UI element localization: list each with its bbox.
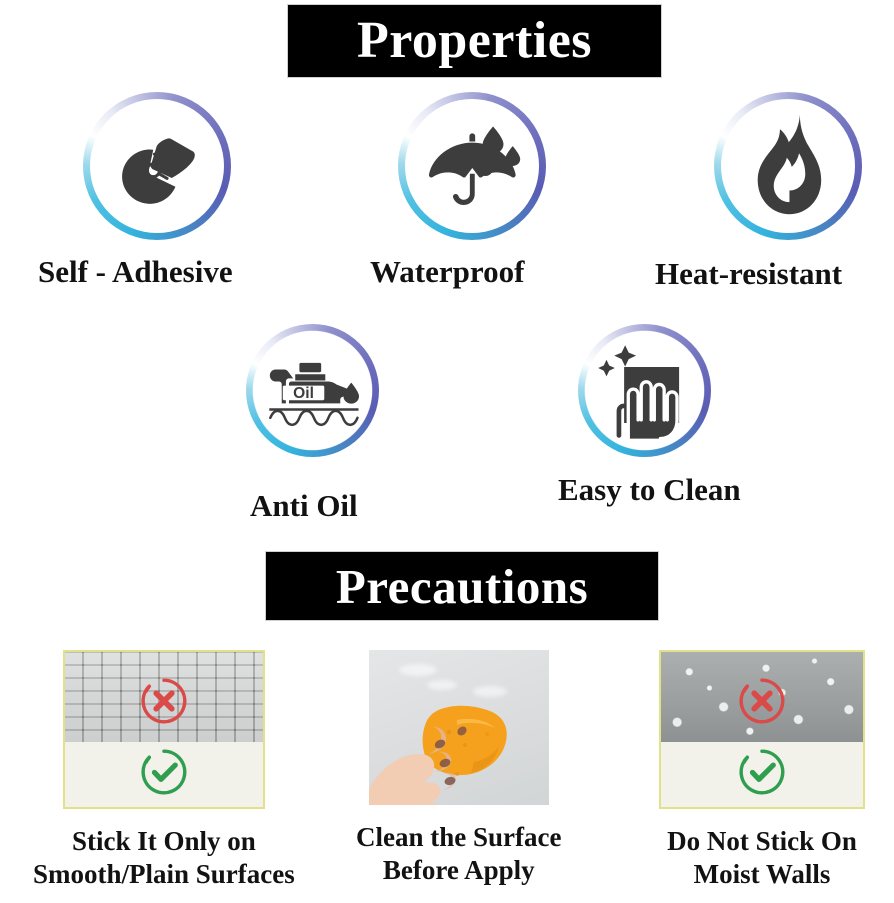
property-item-self-adhesive <box>83 92 231 240</box>
property-label-heat-resistant: Heat-resistant <box>655 258 842 289</box>
red-x-icon <box>138 675 190 727</box>
hand-peeling-sticker-icon <box>99 108 214 223</box>
property-label-self-adhesive: Self - Adhesive <box>38 256 233 287</box>
icon-ring-anti-oil: Oil <box>246 324 379 457</box>
icon-ring-heat-resistant <box>714 92 862 240</box>
flame-icon <box>730 108 845 223</box>
moist-wall-vs-dry-wall-figure <box>659 650 865 809</box>
precaution-item-clean-surface: Clean the Surface Before Apply <box>356 650 561 887</box>
property-item-heat-resistant <box>714 92 862 240</box>
property-label-waterproof: Waterproof <box>370 256 524 287</box>
hand-wiping-cloth-icon <box>593 339 697 443</box>
properties-title: Properties <box>357 15 592 67</box>
brick-wall-vs-smooth-wall-figure <box>63 650 265 809</box>
property-item-waterproof <box>398 92 546 240</box>
green-check-icon <box>736 746 788 798</box>
hand-with-orange-sponge-photo <box>369 650 549 805</box>
precaution-item-moist-walls: Do Not Stick On Moist Walls <box>659 650 865 891</box>
property-item-easy-clean <box>578 324 711 457</box>
icon-ring-self-adhesive <box>83 92 231 240</box>
property-label-anti-oil: Anti Oil <box>250 490 358 521</box>
precaution-caption-clean-surface: Clean the Surface Before Apply <box>356 821 561 887</box>
icon-ring-waterproof <box>398 92 546 240</box>
green-check-icon <box>138 746 190 798</box>
properties-section-banner: Properties <box>288 5 661 77</box>
red-x-icon <box>736 675 788 727</box>
precaution-item-smooth-surfaces: Stick It Only on Smooth/Plain Surfaces <box>33 650 295 891</box>
icon-ring-easy-clean <box>578 324 711 457</box>
precautions-title: Precautions <box>336 562 588 611</box>
precaution-caption-smooth-surfaces: Stick It Only on Smooth/Plain Surfaces <box>33 825 295 891</box>
property-item-anti-oil: Oil <box>246 324 379 457</box>
oil-can-icon: Oil <box>261 339 365 443</box>
precautions-section-banner: Precautions <box>266 552 658 620</box>
svg-text:Oil: Oil <box>293 385 314 402</box>
umbrella-rain-icon <box>414 108 529 223</box>
precaution-caption-moist-walls: Do Not Stick On Moist Walls <box>667 825 857 891</box>
property-label-easy-clean: Easy to Clean <box>558 474 741 505</box>
